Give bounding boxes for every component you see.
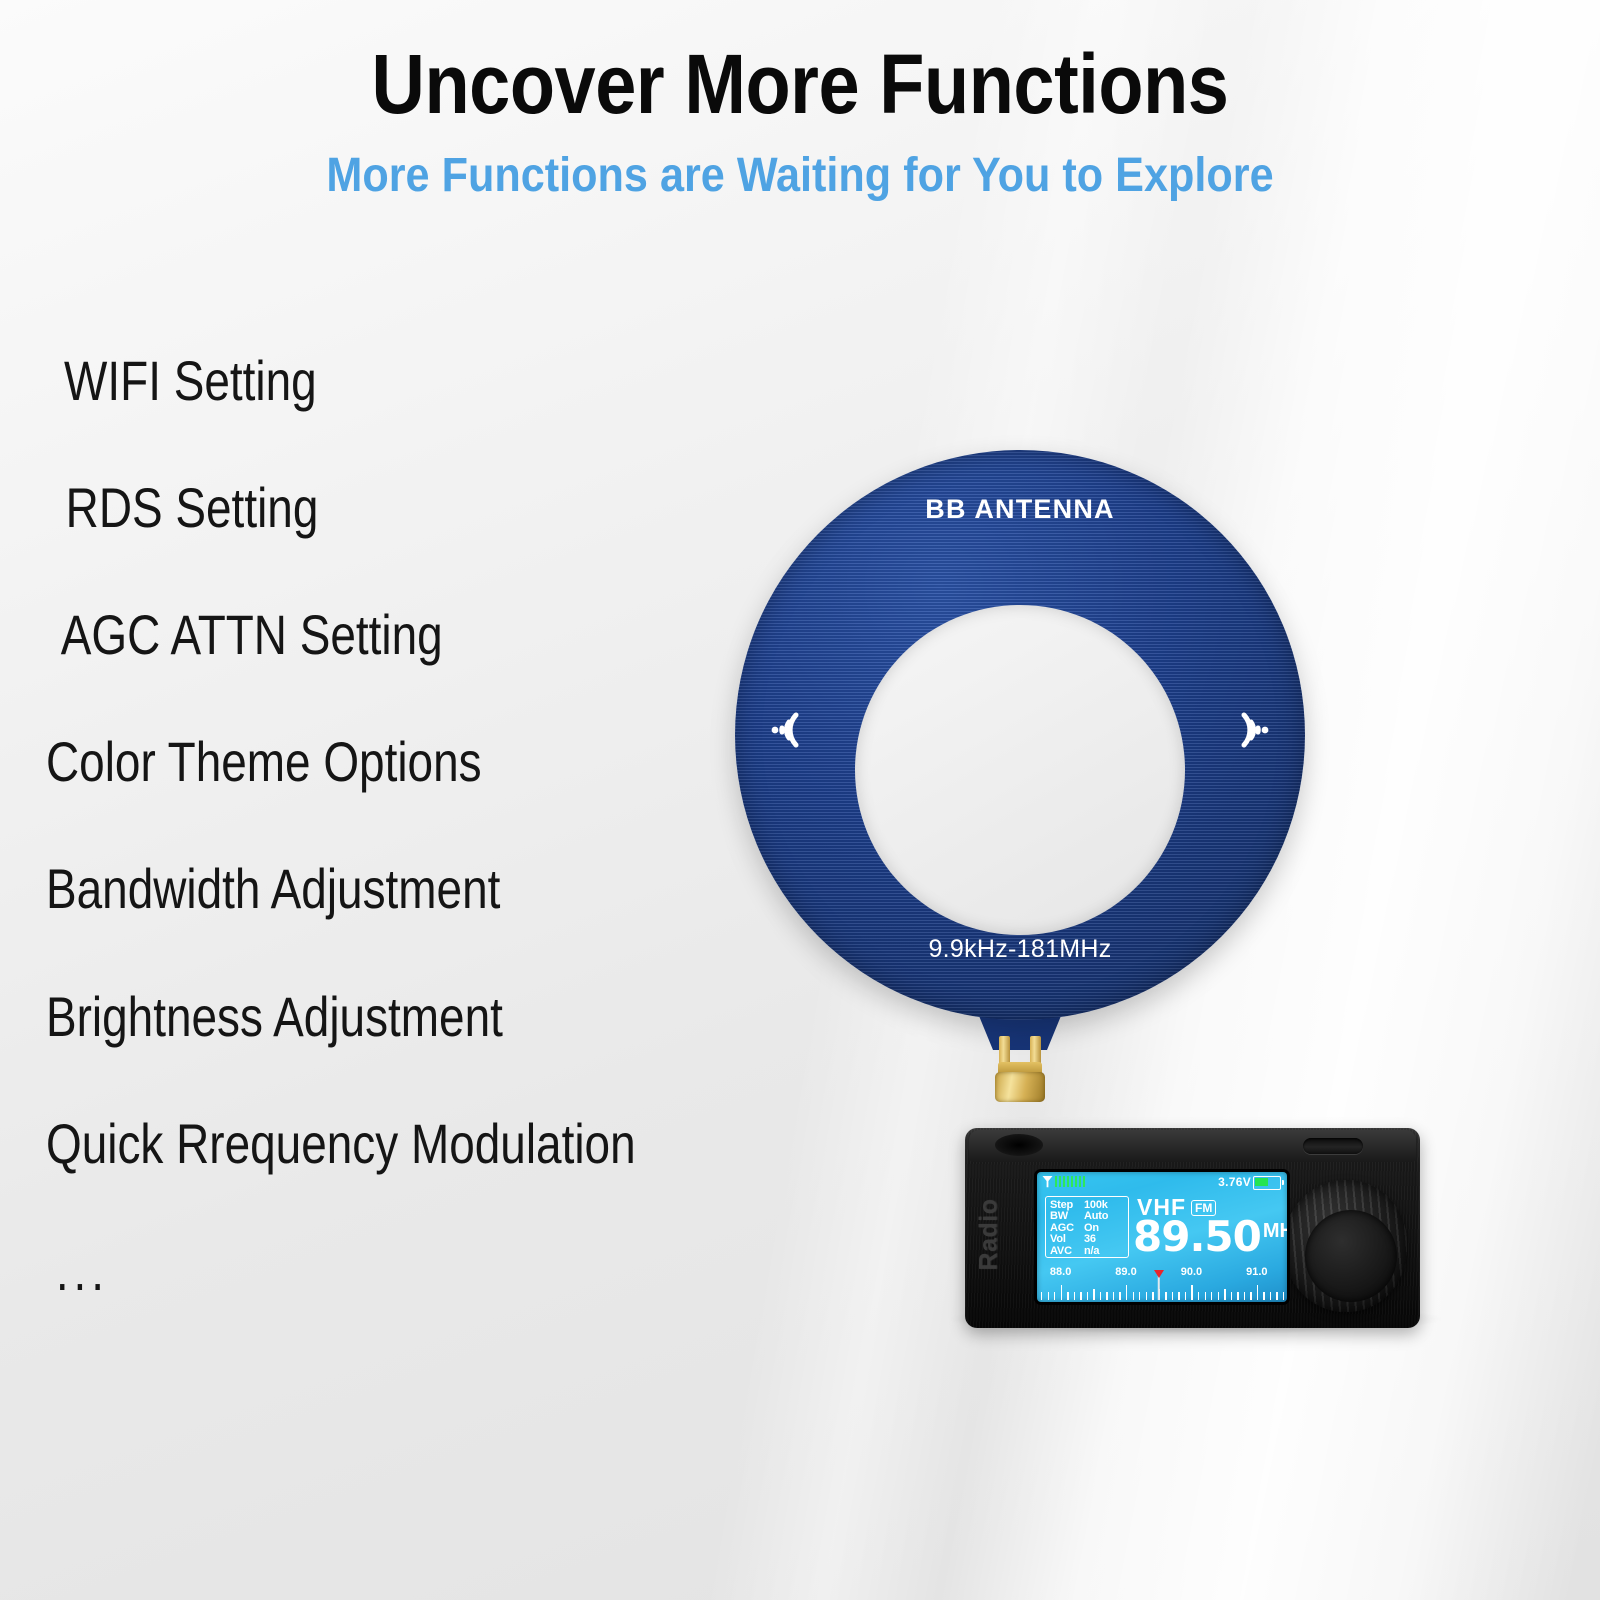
dial-tick: [1224, 1289, 1225, 1300]
sma-nut: [995, 1072, 1045, 1102]
settings-panel: Step 100k BW Auto AGC On Vol 36 AVC n/: [1045, 1196, 1129, 1258]
battery-level-fill: [1255, 1178, 1268, 1186]
antenna-socket: [995, 1134, 1043, 1156]
list-item: RDS Setting: [46, 479, 727, 536]
signal-bar: [1079, 1176, 1081, 1187]
tuning-dial-scale: 88.089.090.091.0: [1037, 1266, 1287, 1302]
dial-tick: [1087, 1292, 1088, 1300]
dial-tick: [1133, 1292, 1134, 1300]
antenna-frequency-range: 9.9kHz-181MHz: [735, 935, 1305, 964]
dial-tick: [1191, 1285, 1192, 1300]
signal-bar: [1067, 1176, 1069, 1187]
setting-label: AVC: [1050, 1246, 1084, 1257]
frequency-value: 89.50: [1133, 1216, 1261, 1258]
list-item: Color Theme Options: [46, 733, 727, 790]
setting-row: AVC n/a: [1050, 1246, 1128, 1257]
dial-tick: [1231, 1292, 1232, 1300]
signal-bar: [1075, 1176, 1077, 1187]
list-item: WIFI Setting: [46, 352, 727, 409]
setting-value: n/a: [1084, 1246, 1128, 1257]
dial-tick: [1126, 1285, 1127, 1300]
tuning-knob[interactable]: [1283, 1180, 1407, 1312]
signal-antenna-icon: [1042, 1175, 1053, 1188]
lcd-status-bar: 3.76V: [1037, 1172, 1287, 1192]
dial-tick: [1250, 1292, 1251, 1300]
usb-c-port[interactable]: [1303, 1138, 1363, 1154]
setting-label: Vol: [1050, 1234, 1084, 1245]
frequency-display: 89.50 MHz: [1133, 1216, 1287, 1258]
bb-antenna: BB ANTENNA 9.9kHz-181MHz: [735, 450, 1305, 1090]
dial-tick: [1048, 1292, 1049, 1300]
dial-tick: [1205, 1292, 1206, 1300]
portable-radio-device: Radio 3.76V: [965, 1128, 1420, 1333]
dial-tick: [1270, 1292, 1271, 1300]
dial-tick: [1113, 1292, 1114, 1300]
setting-row: Vol 36: [1050, 1234, 1128, 1245]
dial-tick: [1283, 1292, 1284, 1300]
dial-tick: [1100, 1292, 1101, 1300]
dial-tick: [1093, 1289, 1094, 1300]
dial-tick: [1257, 1285, 1258, 1300]
radio-lcd-screen: 3.76V Step 100k BW Auto AGC On: [1037, 1172, 1287, 1302]
battery-icon: [1253, 1176, 1281, 1190]
dial-tick: [1185, 1292, 1186, 1300]
tuning-knob-face[interactable]: [1305, 1210, 1397, 1302]
dial-tick: [1244, 1292, 1245, 1300]
frequency-unit: MHz: [1263, 1220, 1287, 1243]
dial-tick: [1139, 1292, 1140, 1300]
list-item-ellipsis: ...: [46, 1242, 727, 1299]
dial-tick: [1218, 1292, 1219, 1300]
dial-marker-head-icon: [1154, 1270, 1164, 1278]
list-item: AGC ATTN Setting: [46, 606, 727, 663]
dial-tick: [1198, 1292, 1199, 1300]
dial-tick: [1061, 1285, 1062, 1300]
dial-tick: [1074, 1292, 1075, 1300]
dial-tick-label: 89.0: [1115, 1266, 1136, 1278]
dial-tuning-marker: [1157, 1276, 1160, 1300]
signal-bar: [1083, 1176, 1085, 1187]
signal-bar: [1059, 1176, 1061, 1187]
page-subtitle: More Functions are Waiting for You to Ex…: [80, 148, 1520, 203]
dial-tick: [1041, 1292, 1042, 1300]
signal-bar: [1071, 1176, 1073, 1187]
dial-tick: [1172, 1292, 1173, 1300]
antenna-brand-label: BB ANTENNA: [735, 494, 1305, 525]
list-item: Bandwidth Adjustment: [46, 860, 727, 917]
sma-connector: [990, 1036, 1050, 1100]
setting-value: 36: [1084, 1234, 1128, 1245]
list-item: Brightness Adjustment: [46, 988, 727, 1045]
battery-voltage-readout: 3.76V: [1218, 1175, 1251, 1189]
dial-tick: [1263, 1292, 1264, 1300]
dial-tick-label: 91.0: [1246, 1266, 1267, 1278]
dial-tick: [1237, 1292, 1238, 1300]
device-side-label: Radio: [975, 1187, 1004, 1283]
dial-tick: [1211, 1292, 1212, 1300]
product-feature-poster: Uncover More Functions More Functions ar…: [0, 0, 1600, 1600]
dial-tick: [1119, 1292, 1120, 1300]
dial-tick: [1106, 1292, 1107, 1300]
dial-tick: [1178, 1292, 1179, 1300]
signal-bar: [1055, 1176, 1057, 1187]
dial-tick: [1152, 1292, 1153, 1300]
signal-bar: [1063, 1176, 1065, 1187]
dial-tick-label: 88.0: [1050, 1266, 1071, 1278]
wifi-signal-right-icon: [1221, 702, 1277, 758]
dial-tick: [1146, 1292, 1147, 1300]
dial-tick: [1276, 1292, 1277, 1300]
dial-tick: [1054, 1292, 1055, 1300]
dial-tick: [1165, 1292, 1166, 1300]
signal-strength-bars: [1055, 1176, 1085, 1187]
dial-tick-label: 90.0: [1181, 1266, 1202, 1278]
dial-tick: [1080, 1292, 1081, 1300]
antenna-inner-hole: [855, 605, 1185, 935]
list-item: Quick Rrequency Modulation: [46, 1115, 727, 1172]
wifi-signal-left-icon: [763, 702, 819, 758]
page-title: Uncover More Functions: [96, 36, 1504, 133]
dial-tick: [1067, 1292, 1068, 1300]
